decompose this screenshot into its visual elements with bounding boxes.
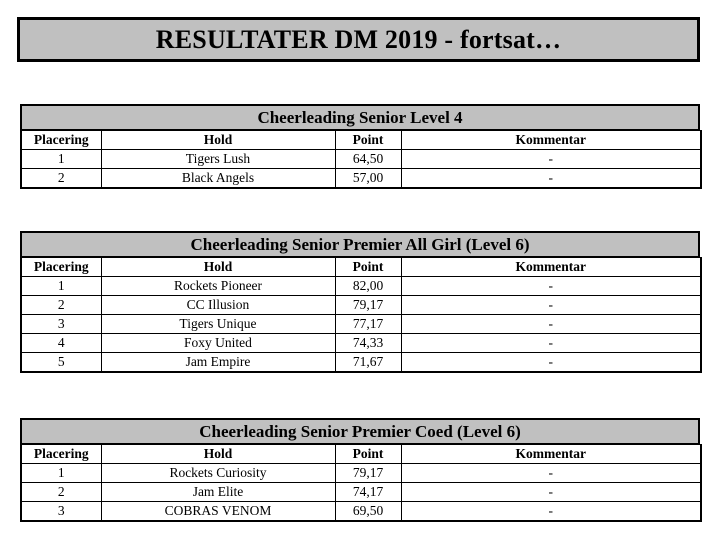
cell-point: 64,50 (335, 150, 401, 169)
cell-hold: Rockets Pioneer (101, 277, 335, 296)
cell-point: 74,17 (335, 483, 401, 502)
table-title-banner: Cheerleading Senior Premier Coed (Level … (20, 418, 700, 444)
cell-placering: 2 (21, 296, 101, 315)
table-row: 2Black Angels57,00- (21, 169, 701, 189)
table-row: 1Rockets Curiosity79,17- (21, 464, 701, 483)
cell-placering: 2 (21, 483, 101, 502)
table-body: 1Rockets Curiosity79,17-2Jam Elite74,17-… (21, 464, 701, 522)
cell-hold: Foxy United (101, 334, 335, 353)
column-header-kommentar: Kommentar (401, 445, 701, 464)
table-title: Cheerleading Senior Level 4 (257, 109, 462, 126)
table-row: 5Jam Empire71,67- (21, 353, 701, 373)
result-block: Cheerleading Senior Level 4 Placering Ho… (20, 104, 700, 189)
column-header-hold: Hold (101, 258, 335, 277)
result-block: Cheerleading Senior Premier Coed (Level … (20, 418, 700, 522)
column-header-placering: Placering (21, 445, 101, 464)
cell-kommentar: - (401, 464, 701, 483)
results-table: Placering Hold Point Kommentar 1Rockets … (20, 444, 702, 522)
page-title: RESULTATER DM 2019 - fortsat… (156, 27, 561, 53)
cell-kommentar: - (401, 315, 701, 334)
cell-hold: Tigers Unique (101, 315, 335, 334)
cell-hold: CC Illusion (101, 296, 335, 315)
table-row: 2Jam Elite74,17- (21, 483, 701, 502)
column-header-placering: Placering (21, 258, 101, 277)
cell-placering: 4 (21, 334, 101, 353)
cell-placering: 5 (21, 353, 101, 373)
cell-point: 77,17 (335, 315, 401, 334)
cell-kommentar: - (401, 483, 701, 502)
cell-point: 71,67 (335, 353, 401, 373)
cell-placering: 2 (21, 169, 101, 189)
cell-placering: 1 (21, 277, 101, 296)
column-header-kommentar: Kommentar (401, 258, 701, 277)
cell-placering: 3 (21, 315, 101, 334)
table-header-row: Placering Hold Point Kommentar (21, 258, 701, 277)
cell-hold: Jam Elite (101, 483, 335, 502)
table-header-row: Placering Hold Point Kommentar (21, 445, 701, 464)
cell-placering: 1 (21, 150, 101, 169)
cell-placering: 3 (21, 502, 101, 522)
table-body: 1Tigers Lush64,50-2Black Angels57,00- (21, 150, 701, 189)
cell-point: 69,50 (335, 502, 401, 522)
cell-kommentar: - (401, 353, 701, 373)
results-page: RESULTATER DM 2019 - fortsat… Cheerleadi… (0, 0, 722, 552)
table-row: 3Tigers Unique77,17- (21, 315, 701, 334)
cell-kommentar: - (401, 502, 701, 522)
column-header-point: Point (335, 131, 401, 150)
column-header-hold: Hold (101, 131, 335, 150)
results-table: Placering Hold Point Kommentar 1Tigers L… (20, 130, 702, 189)
column-header-point: Point (335, 258, 401, 277)
results-table: Placering Hold Point Kommentar 1Rockets … (20, 257, 702, 373)
column-header-kommentar: Kommentar (401, 131, 701, 150)
cell-point: 74,33 (335, 334, 401, 353)
cell-hold: Jam Empire (101, 353, 335, 373)
cell-hold: Tigers Lush (101, 150, 335, 169)
cell-hold: COBRAS VENOM (101, 502, 335, 522)
cell-kommentar: - (401, 169, 701, 189)
cell-hold: Black Angels (101, 169, 335, 189)
cell-kommentar: - (401, 150, 701, 169)
cell-point: 57,00 (335, 169, 401, 189)
result-block: Cheerleading Senior Premier All Girl (Le… (20, 231, 700, 373)
column-header-hold: Hold (101, 445, 335, 464)
cell-point: 79,17 (335, 296, 401, 315)
table-title: Cheerleading Senior Premier All Girl (Le… (191, 236, 530, 253)
table-title-banner: Cheerleading Senior Premier All Girl (Le… (20, 231, 700, 257)
cell-point: 79,17 (335, 464, 401, 483)
cell-kommentar: - (401, 334, 701, 353)
column-header-point: Point (335, 445, 401, 464)
table-row: 1Tigers Lush64,50- (21, 150, 701, 169)
table-row: 3COBRAS VENOM69,50- (21, 502, 701, 522)
table-row: 4Foxy United74,33- (21, 334, 701, 353)
document-title-banner: RESULTATER DM 2019 - fortsat… (17, 17, 700, 62)
cell-kommentar: - (401, 277, 701, 296)
table-body: 1Rockets Pioneer82,00-2CC Illusion79,17-… (21, 277, 701, 373)
table-header-row: Placering Hold Point Kommentar (21, 131, 701, 150)
cell-placering: 1 (21, 464, 101, 483)
cell-point: 82,00 (335, 277, 401, 296)
table-title: Cheerleading Senior Premier Coed (Level … (199, 423, 521, 440)
column-header-placering: Placering (21, 131, 101, 150)
table-row: 1Rockets Pioneer82,00- (21, 277, 701, 296)
table-title-banner: Cheerleading Senior Level 4 (20, 104, 700, 130)
cell-hold: Rockets Curiosity (101, 464, 335, 483)
table-row: 2CC Illusion79,17- (21, 296, 701, 315)
cell-kommentar: - (401, 296, 701, 315)
